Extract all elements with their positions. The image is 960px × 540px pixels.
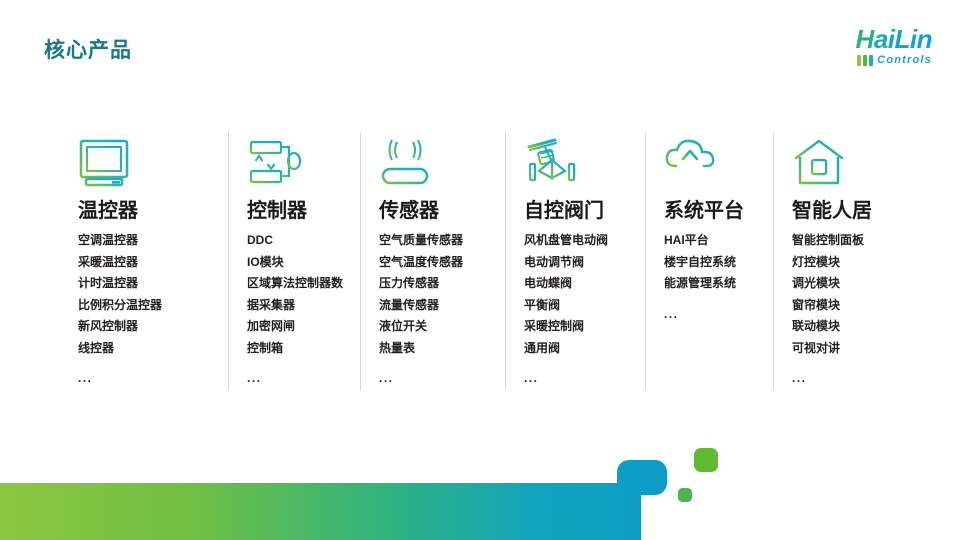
product-column-platforms: 系统平台 HAI平台 楼宇自控系统 能源管理系统 ... [645,132,773,390]
product-column-valves: 自控阀门 风机盘管电动阀 电动调节阀 电动蝶阀 平衡阀 采暖控制阀 通用阀 ..… [505,132,645,390]
page-title: 核心产品 [44,34,132,64]
list-item: DDC [247,230,350,252]
list-item: IO模块 [247,252,350,274]
logo-subrow: Controls [802,54,932,66]
smart-home-chip-icon [792,132,903,188]
list-item: HAI平台 [664,230,763,252]
deco-square-large [694,448,718,472]
list-item: 风机盘管电动阀 [524,230,635,252]
brand-logo: HaiLin Controls [802,26,932,72]
list-item: 采暖控制阀 [524,316,635,338]
list-item-more: ... [792,359,903,390]
list-item: 压力传感器 [379,273,495,295]
list-item: 能源管理系统 [664,273,763,295]
column-item-list: DDC IO模块 区域算法控制器数据采集器 加密网闸 控制箱 ... [247,230,350,390]
product-column-smart-home: 智能人居 智能控制面板 灯控模块 调光模块 窗帘模块 联动模块 可视对讲 ... [773,132,913,390]
product-column-sensors: 传感器 空气质量传感器 空气温度传感器 压力传感器 流量传感器 液位开关 热量表… [360,132,505,390]
deco-square-small [678,488,692,502]
list-item: 智能控制面板 [792,230,903,252]
column-item-list: 风机盘管电动阀 电动调节阀 电动蝶阀 平衡阀 采暖控制阀 通用阀 ... [524,230,635,390]
list-item-more: ... [379,359,495,390]
product-column-thermostats: 温控器 空调温控器 采暖温控器 计时温控器 比例积分温控器 新风控制器 线控器 … [78,132,228,390]
list-item: 通用阀 [524,338,635,360]
logo-subtext: Controls [877,54,932,66]
bottom-decoration [0,420,960,540]
list-item: 控制箱 [247,338,350,360]
list-item: 计时温控器 [78,273,218,295]
list-item-more: ... [247,359,350,390]
cloud-upload-icon [664,132,763,188]
monitor-icon [78,132,218,188]
bottom-band [0,460,667,540]
list-item: 调光模块 [792,273,903,295]
list-item: 电动蝶阀 [524,273,635,295]
list-item: 窗帘模块 [792,295,903,317]
list-item-more: ... [664,295,763,326]
controller-network-icon [247,132,350,188]
list-item: 热量表 [379,338,495,360]
column-title: 智能人居 [792,198,903,224]
product-columns: 温控器 空调温控器 采暖温控器 计时温控器 比例积分温控器 新风控制器 线控器 … [78,132,923,390]
list-item: 新风控制器 [78,316,218,338]
list-item: 空气质量传感器 [379,230,495,252]
list-item: 采暖温控器 [78,252,218,274]
list-item: 空气温度传感器 [379,252,495,274]
list-item: 比例积分温控器 [78,295,218,317]
list-item: 线控器 [78,338,218,360]
list-item: 楼宇自控系统 [664,252,763,274]
column-item-list: 智能控制面板 灯控模块 调光模块 窗帘模块 联动模块 可视对讲 ... [792,230,903,390]
valve-icon [524,132,635,188]
list-item-more: ... [524,359,635,390]
list-item: 可视对讲 [792,338,903,360]
logo-bars-icon [857,55,873,66]
logo-wordmark: HaiLin [802,26,932,52]
column-item-list: 空调温控器 采暖温控器 计时温控器 比例积分温控器 新风控制器 线控器 ... [78,230,218,390]
list-item: 空调温控器 [78,230,218,252]
column-title: 系统平台 [664,198,763,224]
column-item-list: HAI平台 楼宇自控系统 能源管理系统 ... [664,230,763,325]
column-title: 自控阀门 [524,198,635,224]
column-item-list: 空气质量传感器 空气温度传感器 压力传感器 流量传感器 液位开关 热量表 ... [379,230,495,390]
list-item: 电动调节阀 [524,252,635,274]
product-column-controllers: 控制器 DDC IO模块 区域算法控制器数据采集器 加密网闸 控制箱 ... [228,132,360,390]
sensor-signal-icon [379,132,495,188]
list-item: 液位开关 [379,316,495,338]
list-item: 平衡阀 [524,295,635,317]
column-title: 控制器 [247,198,350,224]
list-item: 联动模块 [792,316,903,338]
column-title: 温控器 [78,198,218,224]
column-title: 传感器 [379,198,495,224]
list-item: 加密网闸 [247,316,350,338]
list-item: 区域算法控制器数据采集器 [247,273,350,316]
list-item: 流量传感器 [379,295,495,317]
list-item: 灯控模块 [792,252,903,274]
list-item-more: ... [78,359,218,390]
